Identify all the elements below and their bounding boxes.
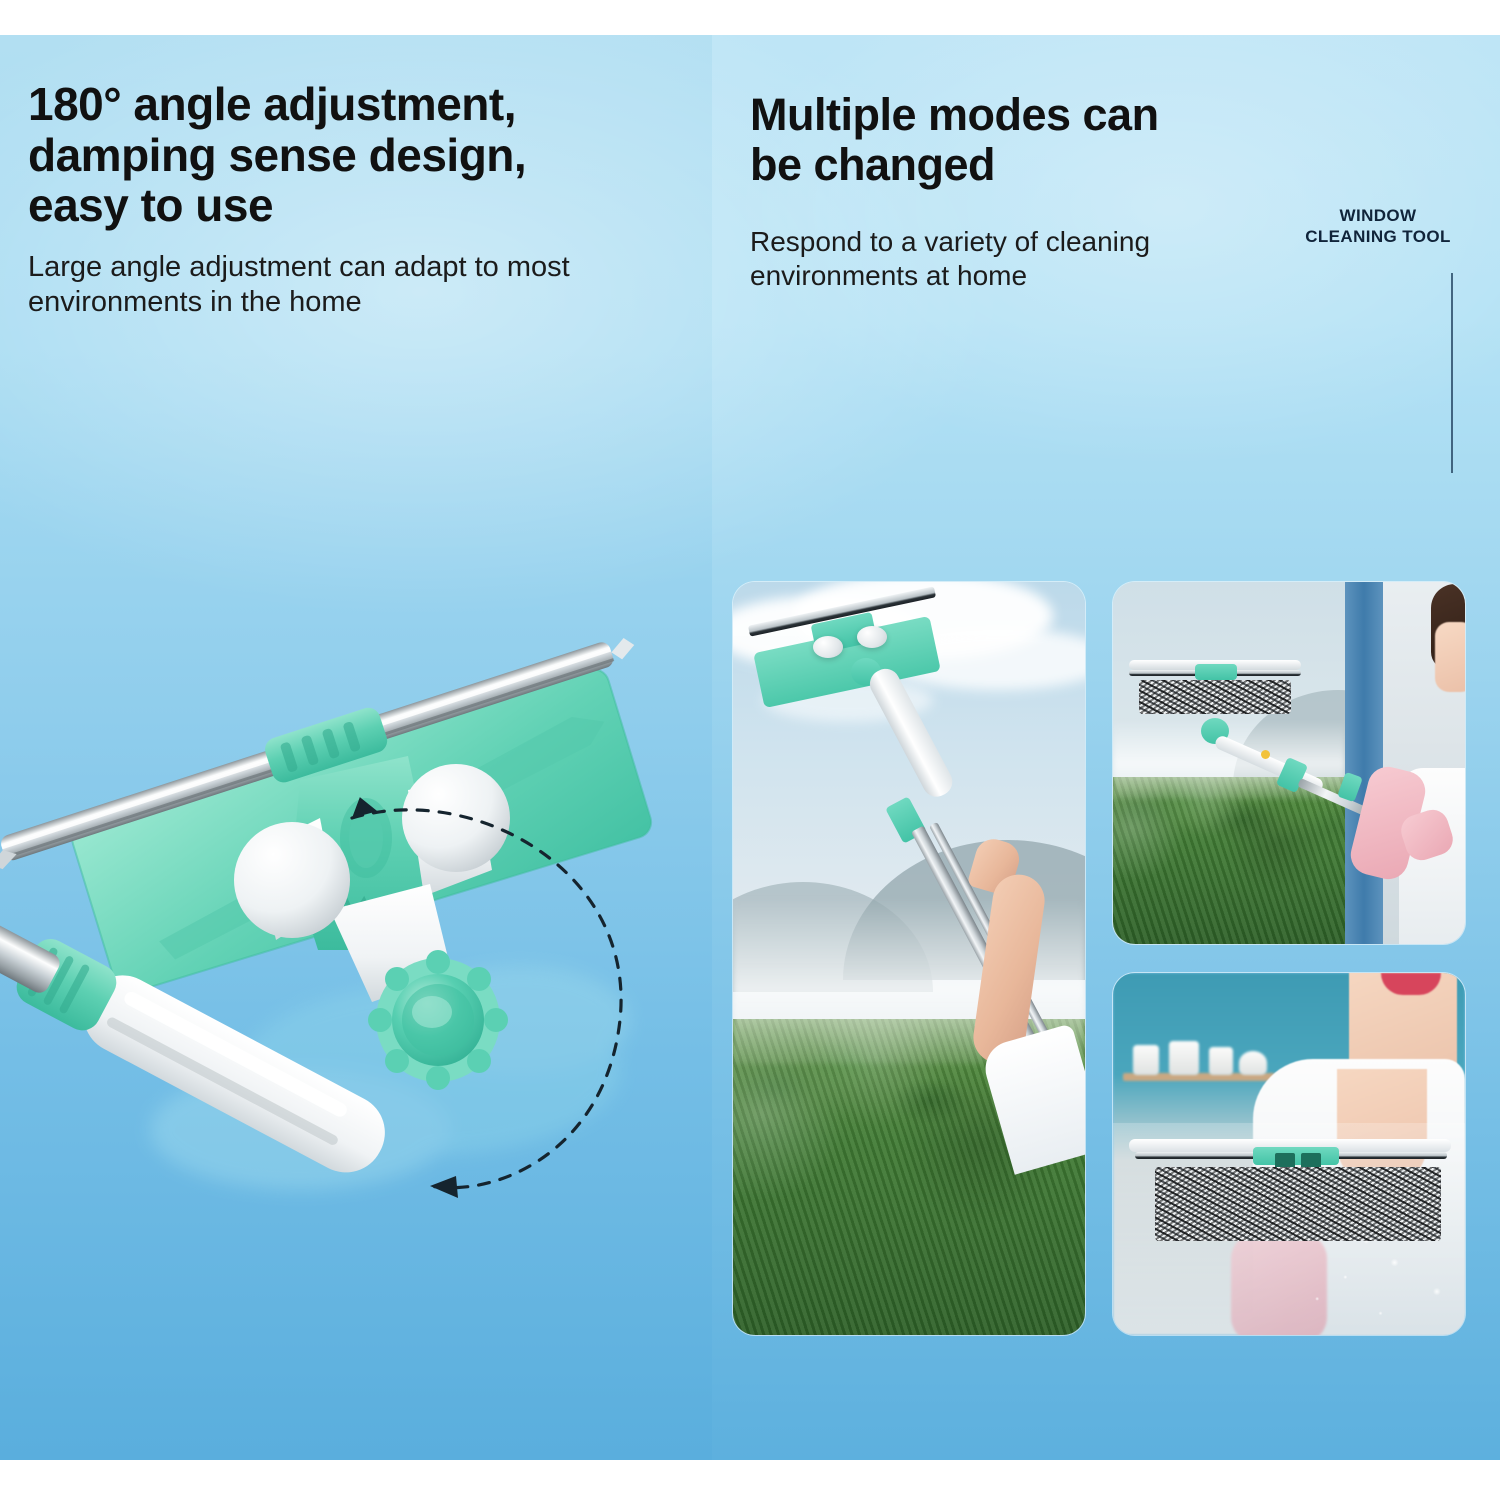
hero-product-image: [0, 550, 712, 1250]
microfiber-pad: [1155, 1167, 1441, 1241]
brand-badge: WINDOW CLEANING TOOL: [1288, 205, 1468, 248]
badge-vertical-rule: [1451, 273, 1453, 473]
locking-knob: [368, 950, 508, 1090]
yellow-button: [1261, 750, 1270, 759]
hinge-clamp: [1195, 664, 1237, 680]
microfiber-pad: [1139, 680, 1291, 714]
window-cleaning-photo[interactable]: [1113, 582, 1465, 944]
forest: [1113, 777, 1345, 944]
white-knob-right: [402, 764, 510, 872]
rotation-arrow-bottom: [430, 1176, 458, 1198]
right-subheading: Respond to a variety of cleaning environ…: [750, 225, 1270, 292]
window-frame: [1345, 582, 1383, 944]
hinge-clamp: [1253, 1147, 1339, 1165]
kitchen-glass-photo[interactable]: [1113, 973, 1465, 1335]
white-knob: [813, 636, 843, 658]
right-heading: Multiple modes can be changed: [750, 90, 1270, 189]
white-knob-left: [234, 822, 350, 938]
blue-canvas: 180° angle adjustment, damping sense des…: [0, 35, 1500, 1460]
infographic-page: 180° angle adjustment, damping sense des…: [0, 0, 1500, 1500]
pole-outdoor-photo[interactable]: [733, 582, 1085, 1335]
white-knob: [857, 626, 887, 648]
face: [1435, 622, 1465, 692]
left-subheading: Large angle adjustment can adapt to most…: [28, 250, 698, 320]
left-heading: 180° angle adjustment, damping sense des…: [28, 79, 688, 231]
